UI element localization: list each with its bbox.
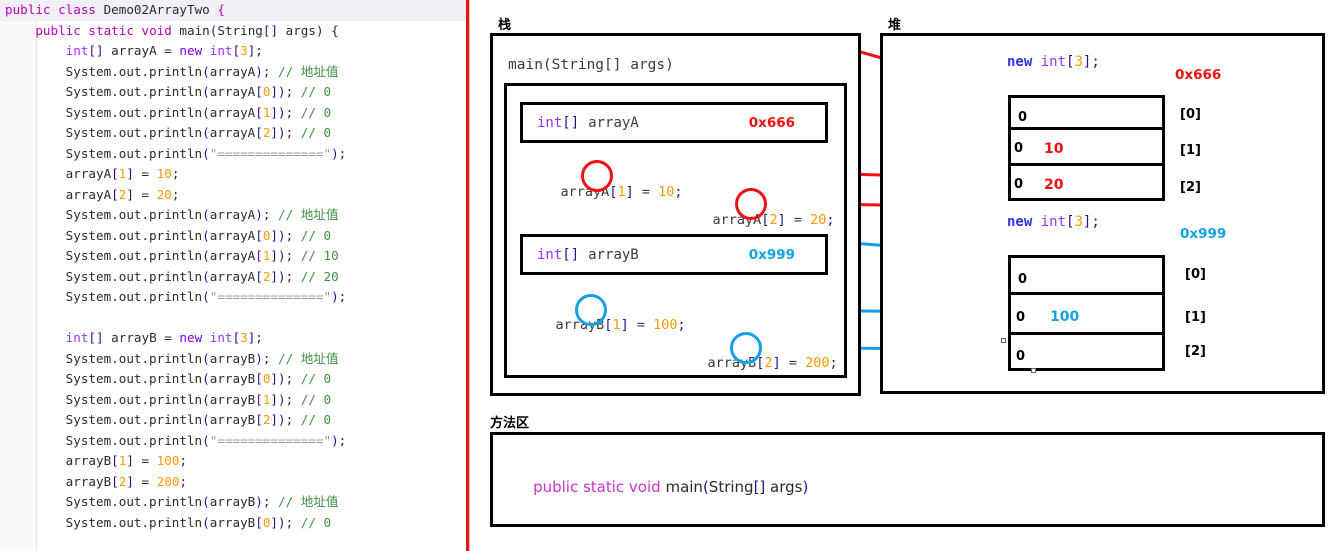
code-token: System.out.println [5, 392, 202, 407]
code-token: ; [255, 330, 263, 345]
code-token: ] [270, 248, 278, 263]
code-token: 3 [240, 330, 248, 345]
code-token: [ [255, 228, 263, 243]
heap-new-expression-0: new int[3]; [1007, 54, 1100, 70]
code-token: arrayA [210, 105, 256, 120]
code-token: ; [172, 166, 180, 181]
code-line-24[interactable]: arrayB[2] = 200; [0, 472, 470, 493]
code-token: [ [233, 330, 241, 345]
var-address-arrayA: 0x666 [749, 115, 795, 131]
code-token: ( [202, 289, 210, 304]
stmt-op-1: = [786, 212, 810, 228]
code-token: 100 [157, 453, 180, 468]
code-token: ) [278, 412, 286, 427]
code-token: [ [111, 453, 119, 468]
selection-handle-end[interactable] [1031, 368, 1036, 373]
highlight-circle-arrayA-1 [581, 160, 613, 192]
code-token: arrayA [210, 248, 256, 263]
heap-cell-1-1 [1008, 295, 1165, 335]
code-token: int [210, 330, 233, 345]
code-token: public [5, 2, 58, 17]
code-token: arrayA [210, 64, 256, 79]
code-token: ( [202, 433, 210, 448]
code-token: ( [202, 125, 210, 140]
code-token: System.out.println [5, 289, 202, 304]
code-token: [ [111, 166, 119, 181]
code-token: ( [202, 64, 210, 79]
code-token: arrayA [210, 84, 256, 99]
code-token: ; [179, 474, 187, 489]
code-token: arrayA [210, 125, 256, 140]
code-token: ) [255, 64, 263, 79]
code-token: new [179, 43, 209, 58]
code-token: ( [202, 105, 210, 120]
code-token: ; [339, 433, 347, 448]
code-token: ( [202, 146, 210, 161]
code-token: arrayB [5, 474, 111, 489]
code-line-21[interactable]: System.out.println(arrayB[2]); // 0 [0, 410, 470, 431]
stmt-op-2: = [629, 317, 653, 333]
code-token: [ [111, 187, 119, 202]
code-token: // 0 [301, 371, 331, 386]
heap-cell-new-value-1-1: 100 [1050, 309, 1079, 325]
var-type-arrayB: int [537, 247, 562, 263]
code-token: ; [179, 453, 187, 468]
heap-array-box-1 [1008, 255, 1165, 371]
code-token [5, 330, 66, 345]
code-token: ( [202, 494, 210, 509]
code-token: System.out.println [5, 515, 202, 530]
code-token: ] [126, 474, 134, 489]
code-token: 200 [157, 474, 180, 489]
code-token: ; [286, 248, 301, 263]
code-token: ; [263, 207, 278, 222]
heap-new-expression-1: new int[3]; [1007, 214, 1100, 230]
code-token: arrayA [5, 187, 111, 202]
code-lines-container: public class Demo02ArrayTwo { public sta… [0, 0, 470, 533]
highlight-circle-arrayA-2 [735, 188, 767, 220]
code-token: // 地址值 [278, 494, 339, 509]
code-token: System.out.println [5, 494, 202, 509]
new-keyword-1: new [1007, 214, 1041, 230]
code-token: ] [270, 412, 278, 427]
code-line-1[interactable]: public class Demo02ArrayTwo { [0, 0, 470, 21]
code-token: main [179, 23, 209, 38]
code-token: ( [202, 515, 210, 530]
code-token: System.out.println [5, 105, 202, 120]
code-token: ) [278, 371, 286, 386]
var-type-arrayA: int [537, 115, 562, 131]
code-token: System.out.println [5, 84, 202, 99]
code-token: ] [270, 371, 278, 386]
heap-address-1: 0x999 [1180, 226, 1226, 242]
heap-cell-index-1-2: [2] [1185, 344, 1206, 359]
code-token: ] [270, 105, 278, 120]
code-line-10[interactable]: arrayA[2] = 20; [0, 185, 470, 206]
code-token: ) [255, 494, 263, 509]
code-line-3[interactable]: int[] arrayA = new int[3]; [0, 41, 470, 62]
code-token: [ [233, 43, 241, 58]
code-token: ; [286, 392, 301, 407]
code-token: public [35, 23, 88, 38]
code-editor-panel[interactable]: public class Demo02ArrayTwo { public sta… [0, 0, 470, 551]
code-token: ; [286, 84, 301, 99]
code-token: ; [339, 146, 347, 161]
stmt-close-0: ] [626, 184, 634, 200]
code-token: ; [263, 494, 278, 509]
stmt-close-1: ] [778, 212, 786, 228]
code-token: ) [278, 125, 286, 140]
heap-address-0: 0x666 [1175, 67, 1221, 83]
code-token: [] [263, 23, 278, 38]
memory-diagram: 栈 main(String[] args) int[]arrayA 0x666 … [470, 0, 1344, 551]
code-token: [ [255, 412, 263, 427]
code-token: arrayB [210, 412, 256, 427]
code-token: int [210, 43, 233, 58]
code-line-7[interactable]: System.out.println(arrayA[2]); // 0 [0, 123, 470, 144]
code-line-5[interactable]: System.out.println(arrayA[0]); // 0 [0, 82, 470, 103]
code-token: ) [316, 23, 324, 38]
code-token: arrayB [210, 371, 256, 386]
code-line-18[interactable]: System.out.println(arrayB); // 地址值 [0, 349, 470, 370]
code-token: // 0 [301, 105, 331, 120]
new-type-0: int [1041, 54, 1066, 70]
var-address-arrayB: 0x999 [749, 247, 795, 263]
code-token: arrayA [5, 166, 111, 181]
code-line-2[interactable]: public static void main(String[] args) { [0, 21, 470, 42]
stmt-index-1: 2 [769, 212, 777, 228]
code-line-20[interactable]: System.out.println(arrayB[1]); // 0 [0, 390, 470, 411]
code-token: // 0 [301, 84, 331, 99]
code-token: ( [202, 248, 210, 263]
code-token: ; [286, 105, 301, 120]
stmt-op-3: = [781, 355, 805, 371]
code-token: 20 [157, 187, 172, 202]
code-token: ] [270, 228, 278, 243]
stmt-semi-3: ; [830, 355, 838, 371]
code-token: arrayB [210, 494, 256, 509]
code-token: ) [278, 515, 286, 530]
method-name: main [665, 478, 702, 496]
code-token: ] [270, 515, 278, 530]
code-token: [ [255, 84, 263, 99]
code-token: ) [331, 433, 339, 448]
heap-cell-index-1-1: [1] [1185, 310, 1206, 325]
code-token: ; [286, 371, 301, 386]
method-param-type: String [709, 478, 754, 496]
code-token: ) [278, 105, 286, 120]
new-keyword-0: new [1007, 54, 1041, 70]
stack-var-box-arrayA: int[]arrayA 0x666 [520, 102, 828, 143]
code-token: Demo02ArrayTwo [104, 2, 218, 17]
code-token: [ [255, 105, 263, 120]
code-token: arrayA [210, 269, 256, 284]
code-token: ; [286, 269, 301, 284]
code-line-6[interactable]: System.out.println(arrayA[1]); // 0 [0, 103, 470, 124]
new-size-1: 3 [1074, 214, 1082, 230]
stmt-semi-1: ; [826, 212, 834, 228]
stack-region-label: 栈 [498, 14, 511, 33]
stmt-close-2: ] [621, 317, 629, 333]
code-token: System.out.println [5, 433, 202, 448]
code-token: "==============" [210, 289, 331, 304]
code-token: // 0 [301, 412, 331, 427]
code-token: ; [339, 289, 347, 304]
code-token: { [217, 2, 225, 17]
code-token: ; [263, 64, 278, 79]
code-token: ; [263, 351, 278, 366]
new-size-0: 3 [1074, 54, 1082, 70]
code-token: ) [278, 392, 286, 407]
stmt-close-3: ] [773, 355, 781, 371]
var-name-arrayB: arrayB [588, 247, 639, 263]
code-token: System.out.println [5, 125, 202, 140]
code-token: 3 [240, 43, 248, 58]
code-token: System.out.println [5, 146, 202, 161]
code-token: [] [88, 43, 103, 58]
code-token: ; [286, 412, 301, 427]
code-token: // 0 [301, 515, 331, 530]
code-token: ) [331, 289, 339, 304]
code-token: void [142, 23, 180, 38]
code-token: System.out.println [5, 248, 202, 263]
code-token: ] [126, 187, 134, 202]
heap-cell-old-value-1-2: 0 [1016, 349, 1025, 364]
code-line-23[interactable]: arrayB[1] = 100; [0, 451, 470, 472]
code-token: ; [255, 43, 263, 58]
code-line-26[interactable]: System.out.println(arrayB[0]); // 0 [0, 513, 470, 534]
code-token: [ [255, 125, 263, 140]
code-token: "==============" [210, 146, 331, 161]
code-token: arrayA = [104, 43, 180, 58]
code-token: ( [202, 269, 210, 284]
var-brackets-arrayA: [] [562, 115, 579, 131]
code-token: String [217, 23, 263, 38]
code-line-19[interactable]: System.out.println(arrayB[0]); // 0 [0, 369, 470, 390]
code-token: System.out.println [5, 351, 202, 366]
var-name-arrayA: arrayA [588, 115, 639, 131]
code-token: System.out.println [5, 64, 202, 79]
code-token: static [88, 23, 141, 38]
highlight-circle-arrayB-1 [575, 294, 607, 326]
stmt-index-2: 1 [612, 317, 620, 333]
heap-cell-new-value-0-2: 20 [1044, 177, 1063, 193]
code-token: [ [255, 371, 263, 386]
method-modifiers: public static void [533, 478, 665, 496]
code-token: ) [278, 228, 286, 243]
code-token: ; [286, 125, 301, 140]
code-token: ( [202, 392, 210, 407]
code-token: "==============" [210, 433, 331, 448]
code-token: ( [202, 228, 210, 243]
code-token: ) [278, 269, 286, 284]
code-token: ] [126, 166, 134, 181]
code-token [5, 43, 66, 58]
code-token: ] [126, 453, 134, 468]
stmt-value-3: 200 [805, 355, 829, 371]
code-token: // 10 [301, 248, 339, 263]
code-token: ] [270, 125, 278, 140]
code-token: System.out.println [5, 228, 202, 243]
code-token: [ [255, 392, 263, 407]
heap-cell-index-0-0: [0] [1180, 107, 1201, 122]
code-token: arrayA [210, 207, 256, 222]
code-line-4[interactable]: System.out.println(arrayA); // 地址值 [0, 62, 470, 83]
heap-cell-1-0 [1008, 255, 1165, 295]
code-token: [ [255, 269, 263, 284]
stmt-value-2: 100 [653, 317, 677, 333]
heap-cell-0-1 [1008, 130, 1165, 166]
heap-cell-old-value-0-2: 0 [1014, 177, 1023, 192]
code-token: ) [278, 248, 286, 263]
code-token: System.out.println [5, 412, 202, 427]
heap-cell-old-value-0-0: 0 [1018, 110, 1027, 125]
code-line-16[interactable] [0, 308, 470, 329]
heap-cell-old-value-0-1: 0 [1014, 141, 1023, 156]
code-token: // 20 [301, 269, 339, 284]
code-line-22[interactable]: System.out.println("=============="); [0, 431, 470, 452]
code-token: ] [270, 269, 278, 284]
new-semi-0: ; [1091, 54, 1099, 70]
code-token: ; [172, 187, 180, 202]
code-token: arrayB = [104, 330, 180, 345]
code-token: // 地址值 [278, 64, 339, 79]
code-token: [ [255, 248, 263, 263]
code-token: [ [255, 515, 263, 530]
heap-cell-index-0-1: [1] [1180, 143, 1201, 158]
code-token: = [134, 453, 157, 468]
stmt-semi-2: ; [678, 317, 686, 333]
code-token: class [58, 2, 104, 17]
code-token: System.out.println [5, 371, 202, 386]
highlight-circle-arrayB-2 [730, 332, 762, 364]
code-line-8[interactable]: System.out.println("=============="); [0, 144, 470, 165]
code-token: ( [202, 84, 210, 99]
code-token: args [278, 23, 316, 38]
stmt-index-0: 1 [617, 184, 625, 200]
code-line-9[interactable]: arrayA[1] = 10; [0, 164, 470, 185]
code-token: = [134, 166, 157, 181]
code-token: arrayA [210, 228, 256, 243]
code-token: new [179, 330, 209, 345]
code-line-12[interactable]: System.out.println(arrayA[0]); // 0 [0, 226, 470, 247]
code-token: { [324, 23, 339, 38]
code-token: [] [88, 330, 103, 345]
code-token: = [134, 474, 157, 489]
heap-cell-0-0 [1008, 95, 1165, 130]
stmt-index-3: 2 [764, 355, 772, 371]
selection-handle-start[interactable] [1001, 338, 1006, 343]
method-param-name: args [765, 478, 802, 496]
code-token: // 地址值 [278, 351, 339, 366]
code-line-13[interactable]: System.out.println(arrayA[1]); // 10 [0, 246, 470, 267]
code-token: ; [286, 228, 301, 243]
code-token: // 地址值 [278, 207, 339, 222]
stmt-op-0: = [634, 184, 658, 200]
stack-var-box-arrayB: int[]arrayB 0x999 [520, 234, 828, 275]
new-semi-1: ; [1091, 214, 1099, 230]
code-token: ( [202, 351, 210, 366]
code-token: arrayB [5, 453, 111, 468]
code-token [5, 23, 35, 38]
code-token: = [134, 187, 157, 202]
heap-cell-index-0-2: [2] [1180, 180, 1201, 195]
heap-cell-old-value-1-0: 0 [1018, 272, 1027, 287]
code-line-15[interactable]: System.out.println("=============="); [0, 287, 470, 308]
code-line-17[interactable]: int[] arrayB = new int[3]; [0, 328, 470, 349]
new-type-1: int [1041, 214, 1066, 230]
code-token: 10 [157, 166, 172, 181]
code-line-11[interactable]: System.out.println(arrayA); // 地址值 [0, 205, 470, 226]
code-token: arrayB [210, 515, 256, 530]
heap-array-box-0 [1008, 95, 1165, 201]
code-token: ] [270, 392, 278, 407]
code-token: arrayB [210, 351, 256, 366]
method-close-paren: ) [802, 478, 808, 496]
code-token: // 0 [301, 392, 331, 407]
code-token: ) [255, 351, 263, 366]
heap-cell-new-value-0-1: 10 [1044, 141, 1063, 157]
code-token: // 0 [301, 125, 331, 140]
code-token: arrayB [210, 392, 256, 407]
code-token: ) [331, 146, 339, 161]
code-token: System.out.println [5, 207, 202, 222]
code-token: System.out.println [5, 269, 202, 284]
code-token: [ [111, 474, 119, 489]
code-token: // 0 [301, 228, 331, 243]
var-brackets-arrayB: [] [562, 247, 579, 263]
stack-frame-title: main(String[] args) [508, 57, 674, 73]
code-line-25[interactable]: System.out.println(arrayB); // 地址值 [0, 492, 470, 513]
heap-region-label: 堆 [888, 14, 901, 33]
code-line-14[interactable]: System.out.println(arrayA[2]); // 20 [0, 267, 470, 288]
code-token: ( [202, 412, 210, 427]
code-token: int [66, 330, 89, 345]
code-token: int [66, 43, 89, 58]
method-area-label: 方法区 [490, 412, 529, 431]
method-area-signature: public static void main(String[] args) [514, 460, 808, 514]
code-token: ; [286, 515, 301, 530]
code-token: ( [202, 371, 210, 386]
code-token: ) [255, 207, 263, 222]
heap-cell-old-value-1-1: 0 [1016, 310, 1025, 325]
stmt-value-0: 10 [658, 184, 674, 200]
code-token: ) [278, 84, 286, 99]
stmt-value-1: 20 [810, 212, 826, 228]
code-token: ] [270, 84, 278, 99]
heap-cell-index-1-0: [0] [1185, 267, 1206, 282]
code-token: ( [202, 207, 210, 222]
method-param-brackets: [] [754, 478, 766, 496]
